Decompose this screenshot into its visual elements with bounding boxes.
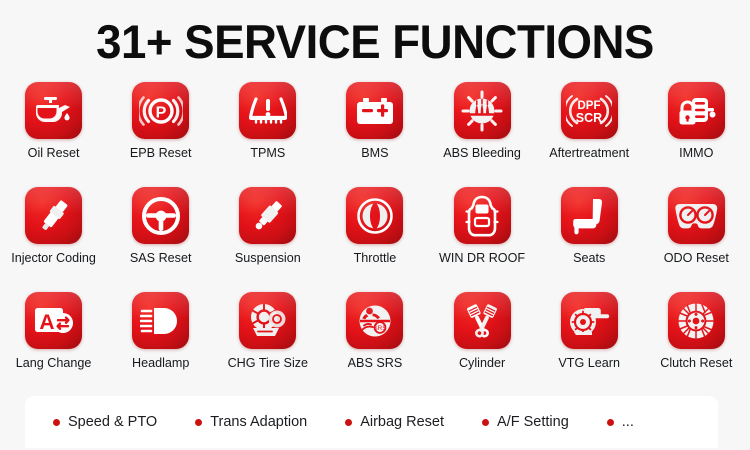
service-item-label: VTG Learn (558, 356, 620, 371)
extra-functions-panel: Speed & PTO Trans Adaption Airbag Reset … (25, 396, 718, 448)
odometer-gauge-icon[interactable] (668, 187, 725, 244)
abs-srs-icon[interactable]: SRS (346, 292, 403, 349)
service-item-label: Injector Coding (11, 251, 96, 266)
service-item-immo[interactable]: IMMO (643, 82, 750, 187)
service-item-label: TPMS (250, 146, 285, 161)
grid-row: A Lang Change (0, 292, 750, 397)
tire-size-icon[interactable] (239, 292, 296, 349)
service-item-odo-reset[interactable]: ODO Reset (643, 187, 750, 292)
bullet-dot-icon (607, 419, 614, 426)
throttle-body-icon[interactable] (346, 187, 403, 244)
extra-item-af-setting[interactable]: A/F Setting (482, 414, 569, 430)
service-item-label: IMMO (679, 146, 713, 161)
battery-icon[interactable] (346, 82, 403, 139)
extra-item-label: ... (622, 414, 634, 430)
service-item-label: Headlamp (132, 356, 189, 371)
service-item-tpms[interactable]: TPMS (214, 82, 321, 187)
steering-wheel-icon[interactable] (132, 187, 189, 244)
extra-item-airbag-reset[interactable]: Airbag Reset (345, 414, 444, 430)
epb-parking-brake-icon[interactable]: P (132, 82, 189, 139)
service-item-aftertreatment[interactable]: DPF SCR Aftertreatment (536, 82, 643, 187)
service-item-epb-reset[interactable]: P EPB Reset (107, 82, 214, 187)
service-item-label: WIN DR ROOF (439, 251, 525, 266)
service-item-oil-reset[interactable]: Oil Reset (0, 82, 107, 187)
service-item-throttle[interactable]: Throttle (321, 187, 428, 292)
service-item-suspension[interactable]: Suspension (214, 187, 321, 292)
extra-item-label: Speed & PTO (68, 414, 157, 430)
service-item-label: Throttle (354, 251, 397, 266)
service-item-win-dr-roof[interactable]: WIN DR ROOF (429, 187, 536, 292)
extra-item-speed-pto[interactable]: Speed & PTO (53, 414, 157, 430)
turbo-icon[interactable] (561, 292, 618, 349)
oil-can-icon[interactable] (25, 82, 82, 139)
bullet-dot-icon (195, 419, 202, 426)
service-item-sas-reset[interactable]: SAS Reset (107, 187, 214, 292)
service-item-abs-bleeding[interactable]: ABS Bleeding (429, 82, 536, 187)
service-item-label: Suspension (235, 251, 301, 266)
bullet-dot-icon (53, 419, 60, 426)
svg-text:SCR: SCR (576, 111, 602, 125)
svg-text:SRS: SRS (373, 325, 386, 332)
abs-bleeding-icon[interactable] (454, 82, 511, 139)
svg-text:P: P (155, 104, 166, 121)
service-item-label: ODO Reset (664, 251, 729, 266)
bullet-dot-icon (345, 419, 352, 426)
tire-pressure-icon[interactable] (239, 82, 296, 139)
service-item-headlamp[interactable]: Headlamp (107, 292, 214, 397)
service-item-label: CHG Tire Size (228, 356, 308, 371)
grid-row: Oil Reset P EPB Reset (0, 82, 750, 187)
service-functions-poster: 31+ SERVICE FUNCTIONS Oil Re (0, 0, 750, 450)
seat-icon[interactable] (561, 187, 618, 244)
service-item-lang-change[interactable]: A Lang Change (0, 292, 107, 397)
extra-item-label: Trans Adaption (210, 414, 307, 430)
service-item-label: ABS Bleeding (443, 146, 521, 161)
grid-row: Injector Coding SAS Reset (0, 187, 750, 292)
piston-cylinder-icon[interactable] (454, 292, 511, 349)
clutch-disc-icon[interactable] (668, 292, 725, 349)
service-item-chg-tire-size[interactable]: CHG Tire Size (214, 292, 321, 397)
extra-item-label: Airbag Reset (360, 414, 444, 430)
extra-item-more[interactable]: ... (607, 414, 634, 430)
svg-text:A: A (39, 311, 54, 334)
extra-item-trans-adaption[interactable]: Trans Adaption (195, 414, 307, 430)
service-item-label: Lang Change (16, 356, 92, 371)
service-item-seats[interactable]: Seats (536, 187, 643, 292)
language-change-icon[interactable]: A (25, 292, 82, 349)
page-title: 31+ SERVICE FUNCTIONS (11, 14, 739, 70)
service-functions-grid: Oil Reset P EPB Reset (0, 82, 750, 397)
service-item-label: BMS (361, 146, 388, 161)
service-item-label: ABS SRS (348, 356, 403, 371)
headlamp-icon[interactable] (132, 292, 189, 349)
service-item-cylinder[interactable]: Cylinder (429, 292, 536, 397)
service-item-injector-coding[interactable]: Injector Coding (0, 187, 107, 292)
service-item-abs-srs[interactable]: SRS ABS SRS (321, 292, 428, 397)
service-item-label: Aftertreatment (549, 146, 629, 161)
extra-item-label: A/F Setting (497, 414, 569, 430)
service-item-label: Cylinder (459, 356, 505, 371)
service-item-clutch-reset[interactable]: Clutch Reset (643, 292, 750, 397)
service-item-label: Seats (573, 251, 605, 266)
dpf-scr-icon[interactable]: DPF SCR (561, 82, 618, 139)
suspension-shock-icon[interactable] (239, 187, 296, 244)
service-item-label: EPB Reset (130, 146, 192, 161)
service-item-label: SAS Reset (130, 251, 192, 266)
injector-icon[interactable] (25, 187, 82, 244)
service-item-bms[interactable]: BMS (321, 82, 428, 187)
service-item-label: Oil Reset (28, 146, 80, 161)
bullet-dot-icon (482, 419, 489, 426)
service-item-vtg-learn[interactable]: VTG Learn (536, 292, 643, 397)
service-item-label: Clutch Reset (660, 356, 732, 371)
immobilizer-lock-icon[interactable] (668, 82, 725, 139)
car-top-view-icon[interactable] (454, 187, 511, 244)
